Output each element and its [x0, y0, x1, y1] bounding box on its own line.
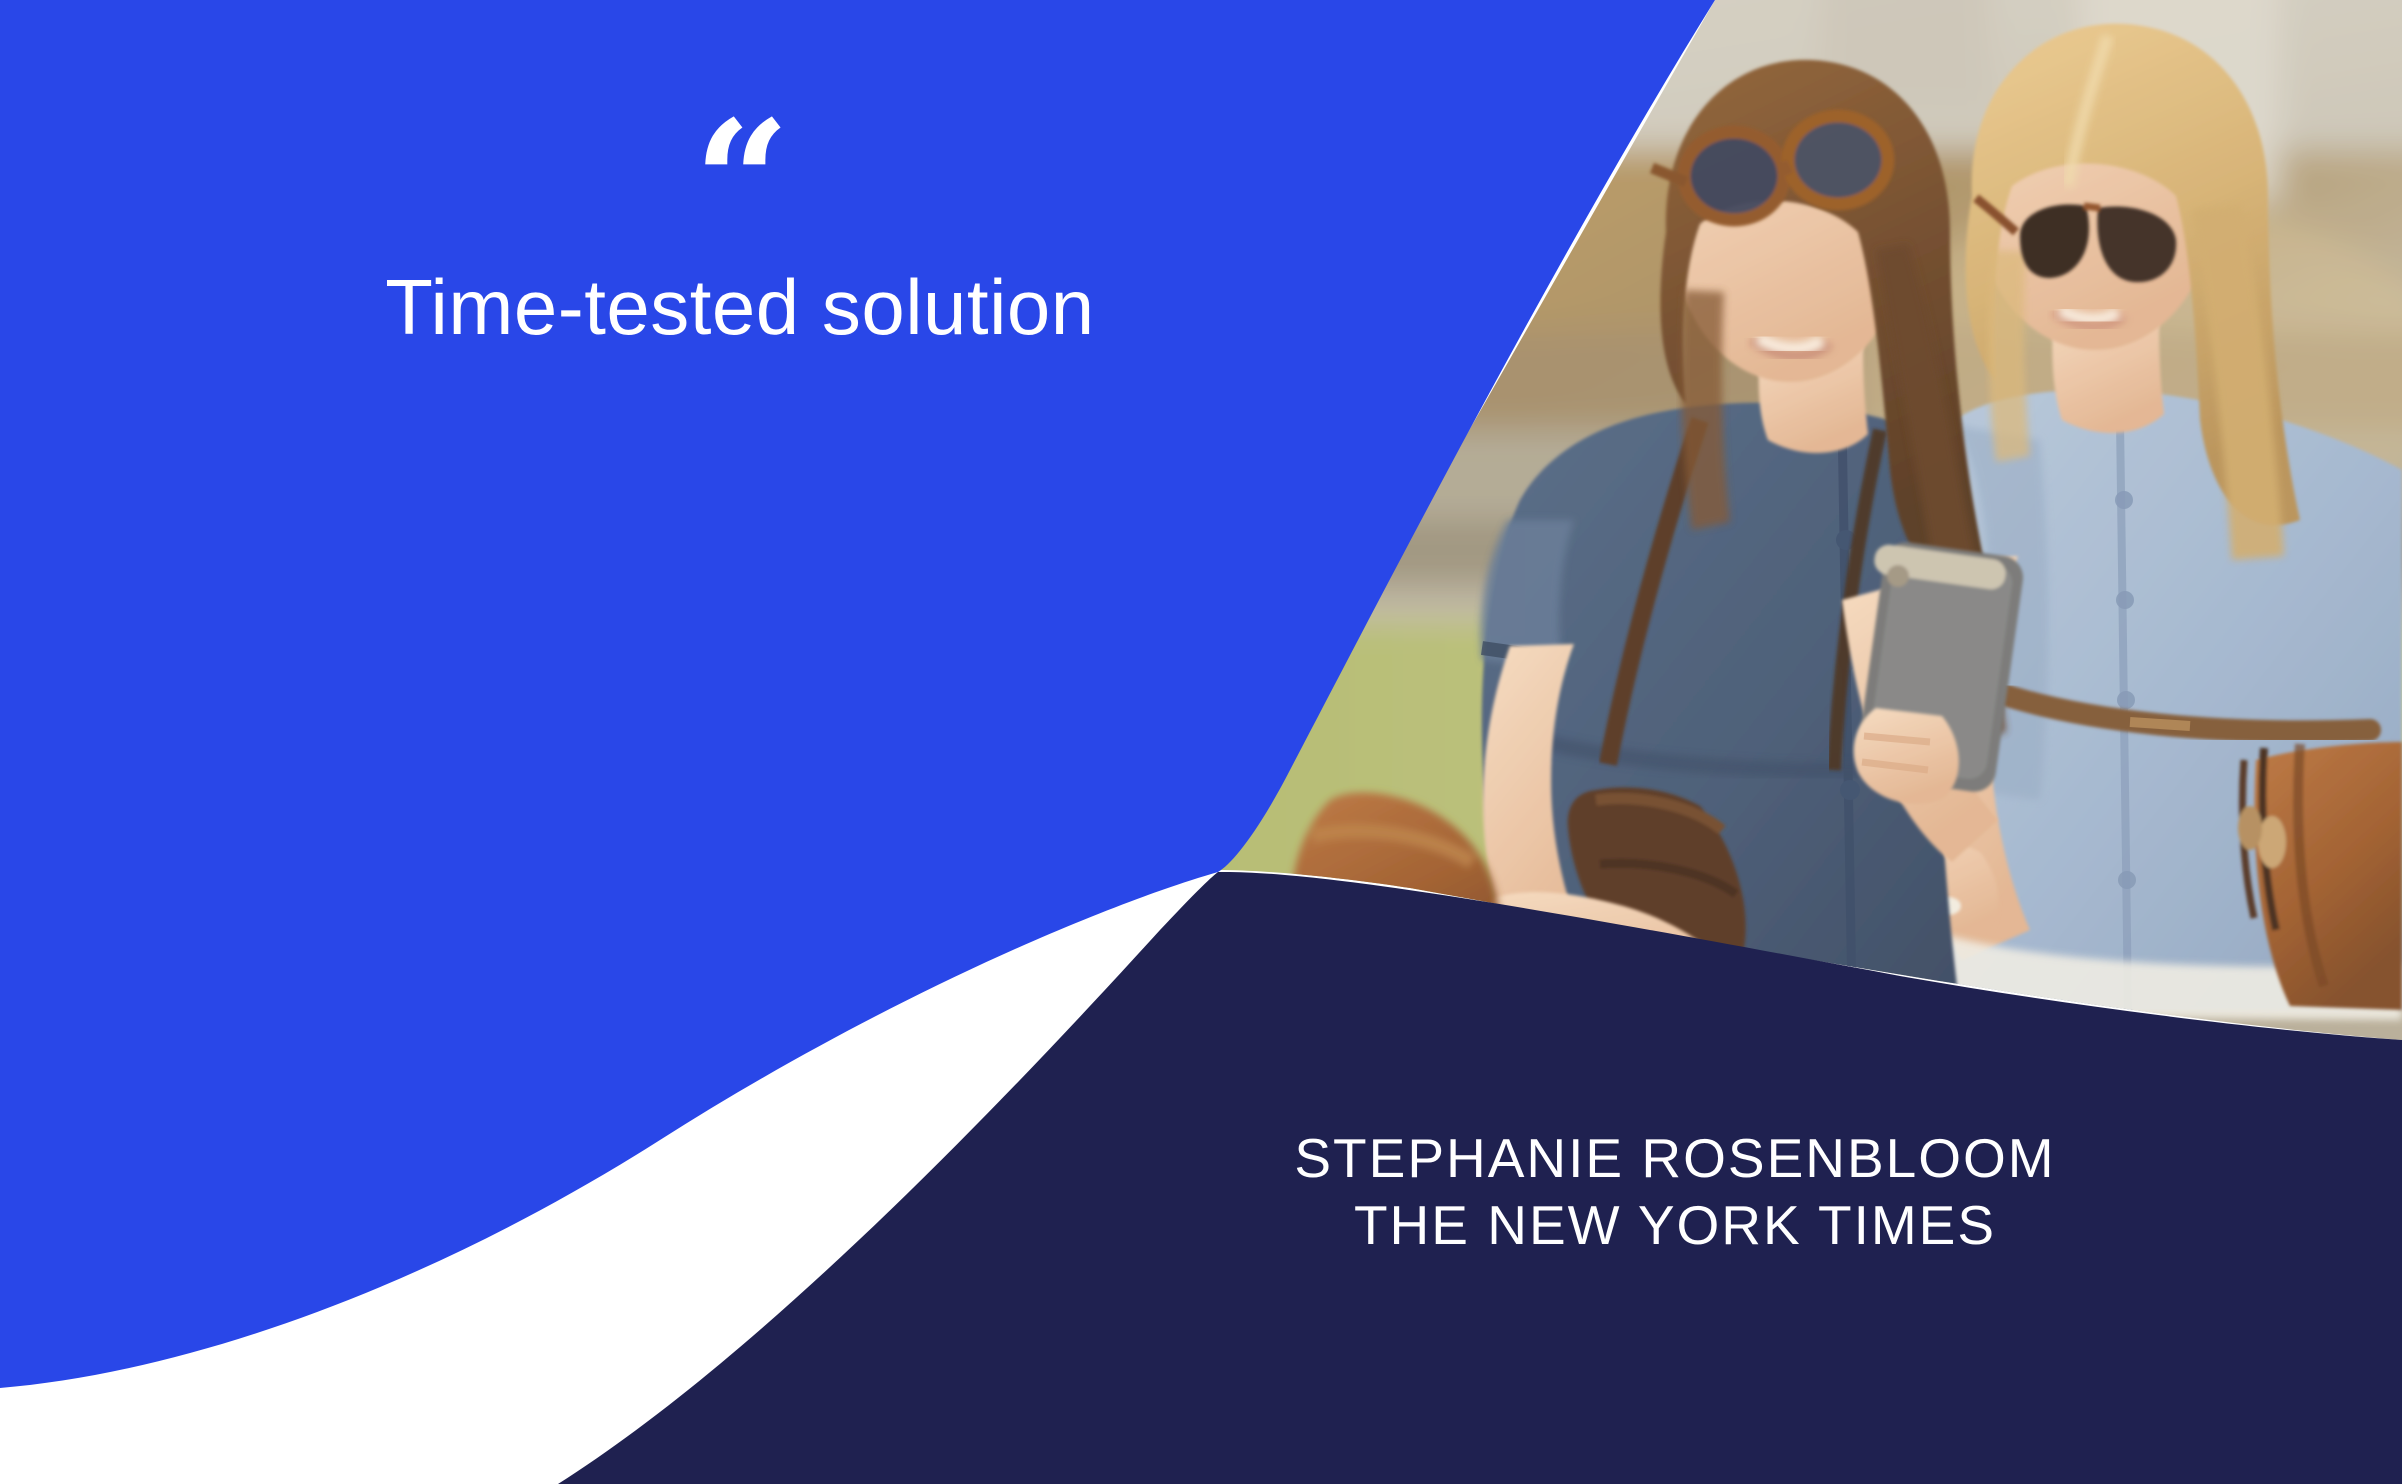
quote-title: Time-tested solution	[0, 266, 1480, 349]
attribution: STEPHANIE ROSENBLOOM THE NEW YORK TIMES	[1185, 1125, 2165, 1259]
open-quote-icon: “	[0, 130, 1480, 248]
quote-block: “ Time-tested solution	[0, 130, 1480, 349]
quote-slide: “ Time-tested solution STEPHANIE ROSENBL…	[0, 0, 2402, 1484]
attribution-organization: THE NEW YORK TIMES	[1185, 1192, 2165, 1259]
attribution-name: STEPHANIE ROSENBLOOM	[1185, 1125, 2165, 1192]
